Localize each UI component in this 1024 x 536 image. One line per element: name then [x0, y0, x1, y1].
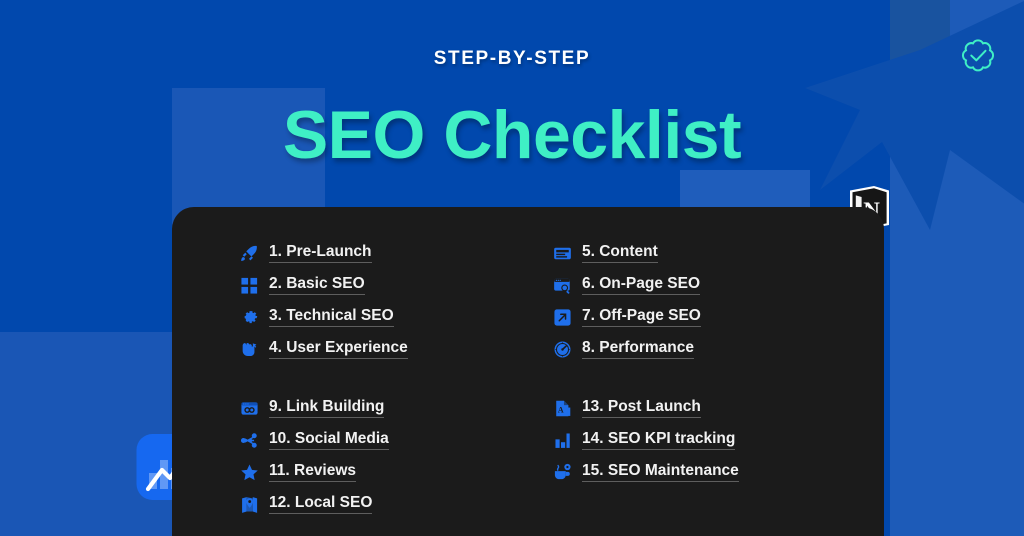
checklist-group-right-top: 5. Content 6. On-Page SEO 7. Off-Page SE…	[553, 237, 866, 365]
list-item-label: 11. Reviews	[269, 462, 356, 483]
list-item-label: 9. Link Building	[269, 398, 384, 419]
list-item[interactable]: 2. Basic SEO	[240, 269, 553, 301]
list-item[interactable]: 9. Link Building	[240, 392, 553, 424]
list-item[interactable]: 7. Off-Page SEO	[553, 301, 866, 333]
list-item-label: 15. SEO Maintenance	[582, 462, 739, 483]
list-item-label: 5. Content	[582, 243, 658, 264]
star-icon	[240, 463, 259, 482]
list-item[interactable]: 6. On-Page SEO	[553, 269, 866, 301]
list-item[interactable]: 8. Performance	[553, 333, 866, 365]
list-item-label: 12. Local SEO	[269, 494, 372, 515]
svg-text:A: A	[558, 405, 564, 414]
settings-tools-icon	[553, 463, 572, 482]
list-item[interactable]: 5. Content	[553, 237, 866, 269]
external-arrow-icon	[553, 308, 572, 327]
checklist-column-left: 1. Pre-Launch 2. Basic SEO 3. Technical …	[240, 237, 553, 520]
list-item-label: 1. Pre-Launch	[269, 243, 372, 264]
list-item[interactable]: 10. Social Media	[240, 424, 553, 456]
checklist-column-right: 5. Content 6. On-Page SEO 7. Off-Page SE…	[553, 237, 866, 520]
list-item[interactable]: 15. SEO Maintenance	[553, 456, 866, 488]
eyebrow-text: STEP-BY-STEP	[0, 48, 1024, 70]
list-item-label: 10. Social Media	[269, 430, 389, 451]
map-pin-icon	[240, 495, 259, 514]
verified-check-badge-icon	[955, 32, 1001, 78]
list-item-label: 2. Basic SEO	[269, 275, 365, 296]
share-nodes-icon	[240, 431, 259, 450]
list-item-label: 13. Post Launch	[582, 398, 701, 419]
checklist-card: 1. Pre-Launch 2. Basic SEO 3. Technical …	[172, 207, 884, 536]
list-item[interactable]: 1. Pre-Launch	[240, 237, 553, 269]
list-item[interactable]: 11. Reviews	[240, 456, 553, 488]
checklist-group-left-top: 1. Pre-Launch 2. Basic SEO 3. Technical …	[240, 237, 553, 365]
list-item[interactable]: 4. User Experience	[240, 333, 553, 365]
speedometer-icon	[553, 340, 572, 359]
list-item-label: 7. Off-Page SEO	[582, 307, 701, 328]
gear-icon	[240, 308, 259, 327]
checklist-group-left-bottom: 9. Link Building 10. Social Media 11. Re…	[240, 392, 553, 520]
poster-canvas: STEP-BY-STEP SEO Checklist N	[0, 0, 1024, 536]
list-item-label: 14. SEO KPI tracking	[582, 430, 735, 451]
document-a-icon: A	[553, 399, 572, 418]
list-item-label: 8. Performance	[582, 339, 694, 360]
list-item[interactable]: A 13. Post Launch	[553, 392, 866, 424]
list-item[interactable]: 12. Local SEO	[240, 488, 553, 520]
checklist-group-right-bottom: A 13. Post Launch 14. SEO KPI tracking	[553, 392, 866, 488]
list-item-label: 4. User Experience	[269, 339, 408, 360]
checklist-grid: 1. Pre-Launch 2. Basic SEO 3. Technical …	[172, 237, 884, 520]
article-card-icon	[553, 244, 572, 263]
bar-chart-icon	[553, 431, 572, 450]
page-title: SEO Checklist	[0, 96, 1024, 174]
list-item[interactable]: 3. Technical SEO	[240, 301, 553, 333]
rocket-icon	[240, 244, 259, 263]
cursor-click-icon	[240, 340, 259, 359]
list-item-label: 6. On-Page SEO	[582, 275, 700, 296]
link-browser-icon	[240, 399, 259, 418]
browser-search-icon	[553, 276, 572, 295]
list-item-label: 3. Technical SEO	[269, 307, 394, 328]
grid-squares-icon	[240, 276, 259, 295]
list-item[interactable]: 14. SEO KPI tracking	[553, 424, 866, 456]
